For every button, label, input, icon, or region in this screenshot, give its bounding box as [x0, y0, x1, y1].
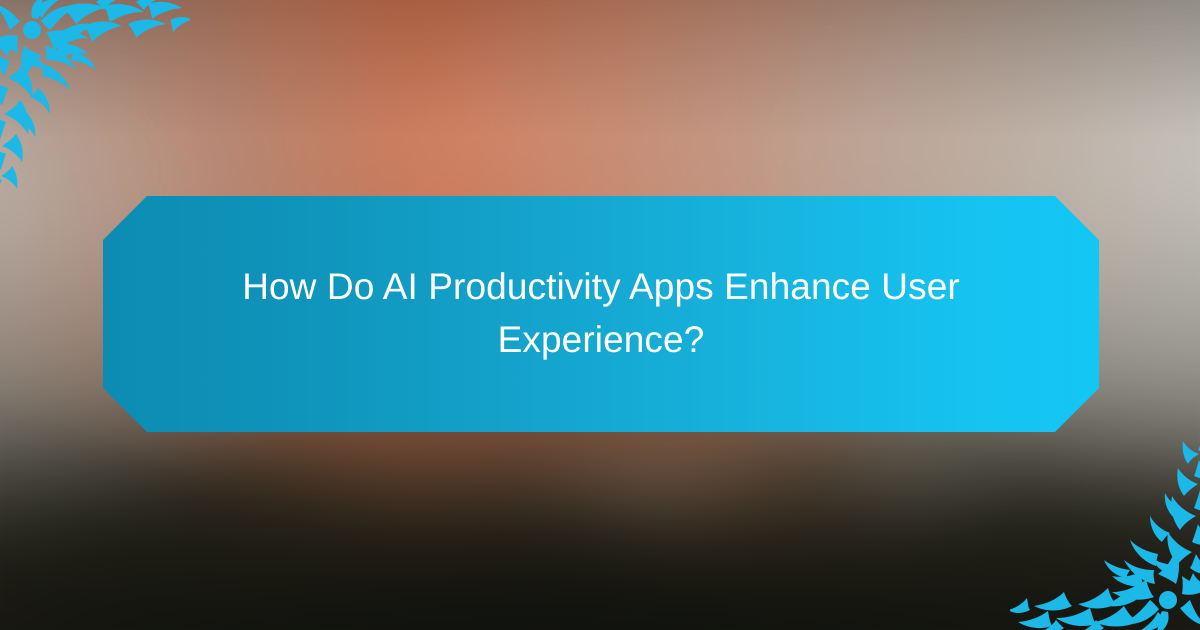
- page-title: How Do AI Productivity Apps Enhance User…: [103, 261, 1099, 366]
- floral-corner-ornament-top-left: [0, 0, 190, 190]
- social-share-card: How Do AI Productivity Apps Enhance User…: [0, 0, 1200, 630]
- title-banner: How Do AI Productivity Apps Enhance User…: [103, 196, 1099, 432]
- floral-corner-ornament-bottom-right: [1010, 440, 1200, 630]
